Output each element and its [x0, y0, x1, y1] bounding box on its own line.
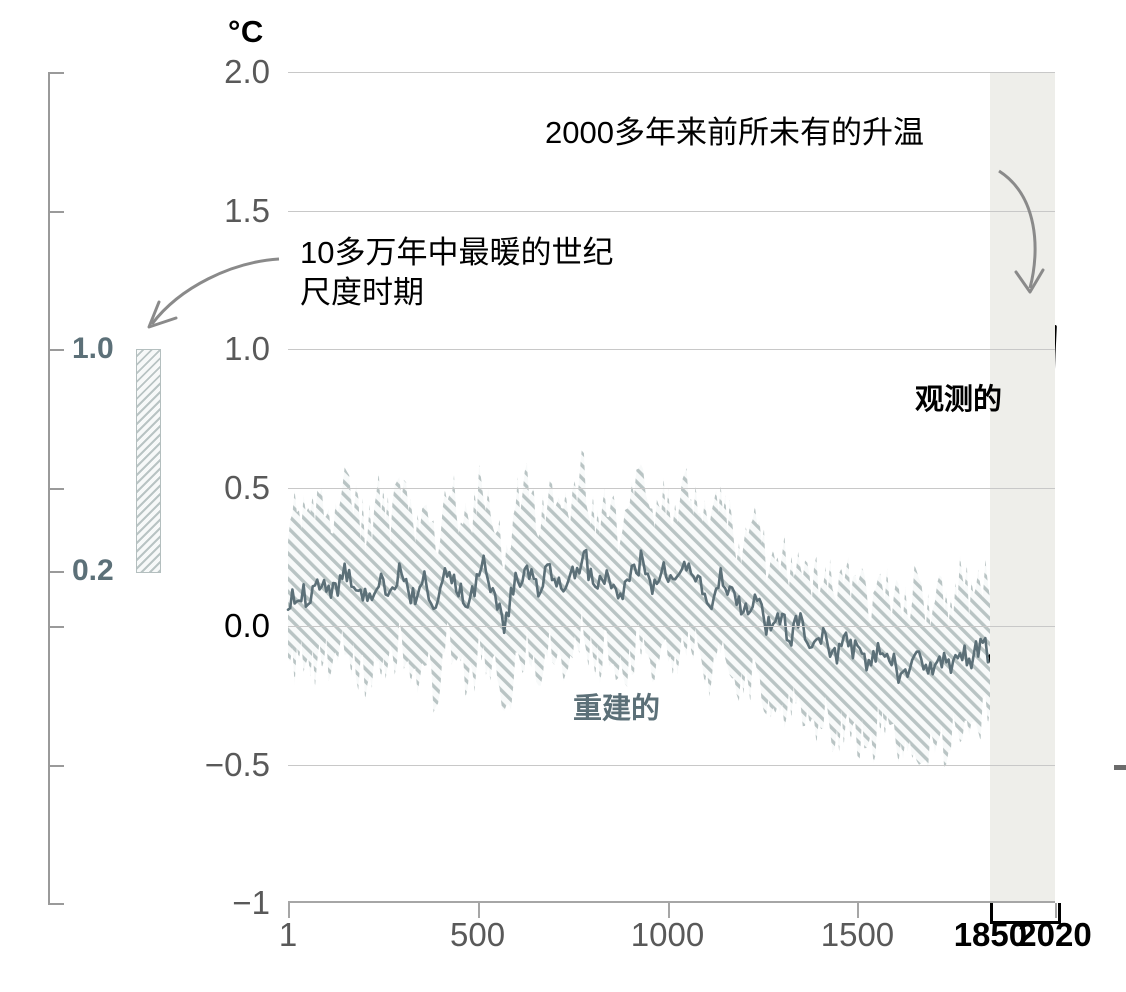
gridline: [288, 349, 1055, 350]
series-label-observed: 观测的: [915, 376, 1002, 418]
x-axis-tick-label: 1: [279, 916, 297, 954]
inset-lower-value-label: 0.2: [72, 554, 114, 588]
right-edge-tick-mark: [1114, 765, 1126, 770]
gridline: [288, 211, 1055, 212]
inset-range-bar: [136, 349, 161, 573]
industrial-period-bracket: [990, 903, 1061, 924]
inset-tick-mark: [48, 903, 64, 905]
inset-tick-mark: [48, 488, 64, 490]
gridline: [288, 765, 1055, 766]
y-axis-tick-label: 1.5: [160, 192, 270, 230]
gridline: [288, 626, 1055, 627]
annotation-warmest-multicentury: 10多万年中最暖的世纪 尺度时期: [300, 233, 613, 312]
inset-tick-mark: [48, 211, 64, 213]
climate-chart-figure: 1.0 0.2 °C 2.01.51.00.50.0−0.5−1 1500100…: [0, 0, 1126, 992]
inset-tick-mark: [48, 571, 64, 573]
y-axis-tick-label: 0.5: [160, 469, 270, 507]
y-axis-tick-label: 1.0: [160, 330, 270, 368]
inset-tick-mark: [48, 72, 64, 74]
inset-tick-mark: [48, 765, 64, 767]
x-axis-tick-labels: 15001000150018502020: [0, 916, 1126, 976]
x-axis-tick-label: 1000: [631, 916, 704, 954]
annotation-unprecedented-warming: 2000多年来前所未有的升温: [545, 113, 924, 153]
y-axis-tick-label: −0.5: [160, 746, 270, 784]
gridline: [288, 72, 1055, 73]
x-axis-tick-label: 500: [450, 916, 505, 954]
gridline: [288, 488, 1055, 489]
plot-area: [288, 72, 1055, 903]
inset-tick-mark: [48, 349, 64, 351]
inset-upper-value-label: 1.0: [72, 332, 114, 366]
y-axis-tick-labels: 2.01.51.00.50.0−0.5−1: [160, 0, 270, 992]
inset-tick-mark: [48, 626, 64, 628]
x-axis-tick-label: 1500: [821, 916, 894, 954]
series-label-reconstructed: 重建的: [573, 685, 660, 727]
y-axis-tick-label: 2.0: [160, 53, 270, 91]
y-axis-tick-label: 0.0: [160, 607, 270, 645]
reconstruction-uncertainty-band: [288, 400, 1047, 768]
